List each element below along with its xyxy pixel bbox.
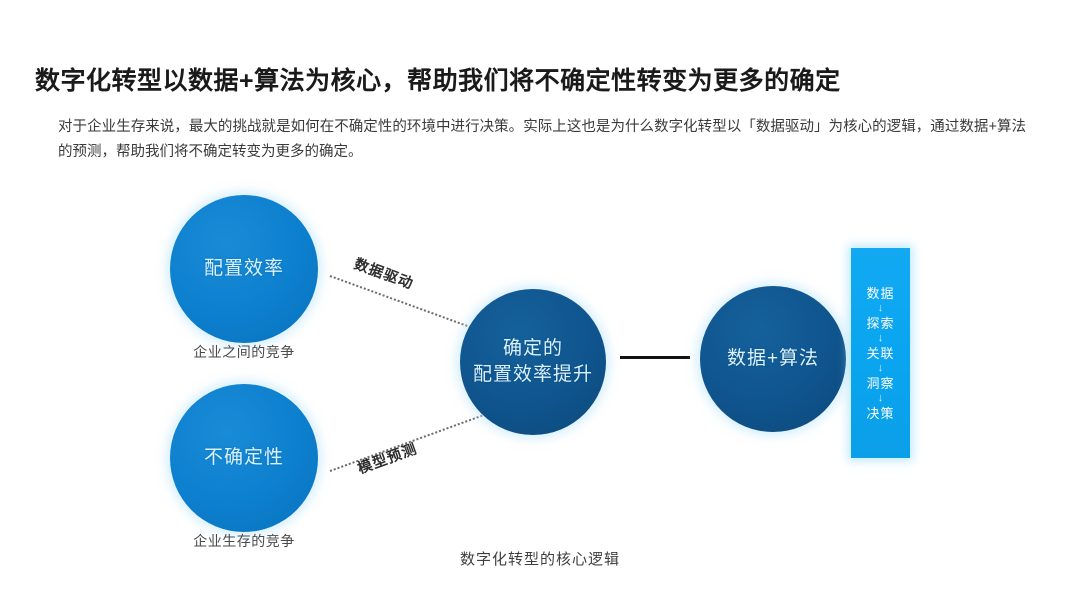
down-arrow-icon-3: ↓ xyxy=(878,362,884,375)
caption-config-efficiency: 企业之间的竞争 xyxy=(144,342,344,362)
connector-solid-line xyxy=(620,356,690,359)
flow-step-4: 洞察 xyxy=(866,376,894,391)
node-uncertainty-label: 不确定性 xyxy=(204,445,284,471)
node-config-efficiency: 配置效率 xyxy=(170,195,318,343)
diagram-area: 配置效率 企业之间的竞争 不确定性 企业生存的竞争 数据驱动 模型预测 确定的 … xyxy=(0,175,1080,575)
node-data-plus-algorithm-label: 数据+算法 xyxy=(727,346,819,372)
down-arrow-icon-2: ↓ xyxy=(878,332,884,345)
node-certain-efficiency-gain-text: 确定的 配置效率提升 xyxy=(473,336,593,388)
node-data-plus-algorithm: 数据+算法 xyxy=(700,286,846,432)
node-uncertainty: 不确定性 xyxy=(170,384,318,532)
down-arrow-icon-1: ↓ xyxy=(878,302,884,315)
down-arrow-icon-4: ↓ xyxy=(878,392,884,405)
figure-caption: 数字化转型的核心逻辑 xyxy=(0,548,1080,569)
flow-step-5: 决策 xyxy=(866,406,894,421)
slide-canvas: 数字化转型以数据+算法为核心，帮助我们将不确定性转变为更多的确定 对于企业生存来… xyxy=(0,0,1080,608)
node-config-efficiency-label: 配置效率 xyxy=(204,256,284,282)
page-title: 数字化转型以数据+算法为核心，帮助我们将不确定性转变为更多的确定 xyxy=(35,61,841,97)
node-certain-efficiency-gain: 确定的 配置效率提升 xyxy=(460,289,606,435)
node-certain-line1: 确定的 xyxy=(503,338,563,359)
flow-step-2: 探索 xyxy=(866,316,894,331)
node-certain-line2: 配置效率提升 xyxy=(473,364,593,385)
flow-step-1: 数据 xyxy=(866,286,894,301)
flow-step-3: 关联 xyxy=(866,346,894,361)
body-paragraph: 对于企业生存来说，最大的挑战就是如何在不确定性的环境中进行决策。实际上这也是为什… xyxy=(58,115,1026,165)
connector-model-prediction-label: 模型预测 xyxy=(354,437,419,478)
flow-bar: 数据 ↓ 探索 ↓ 关联 ↓ 洞察 ↓ 决策 xyxy=(851,248,910,458)
